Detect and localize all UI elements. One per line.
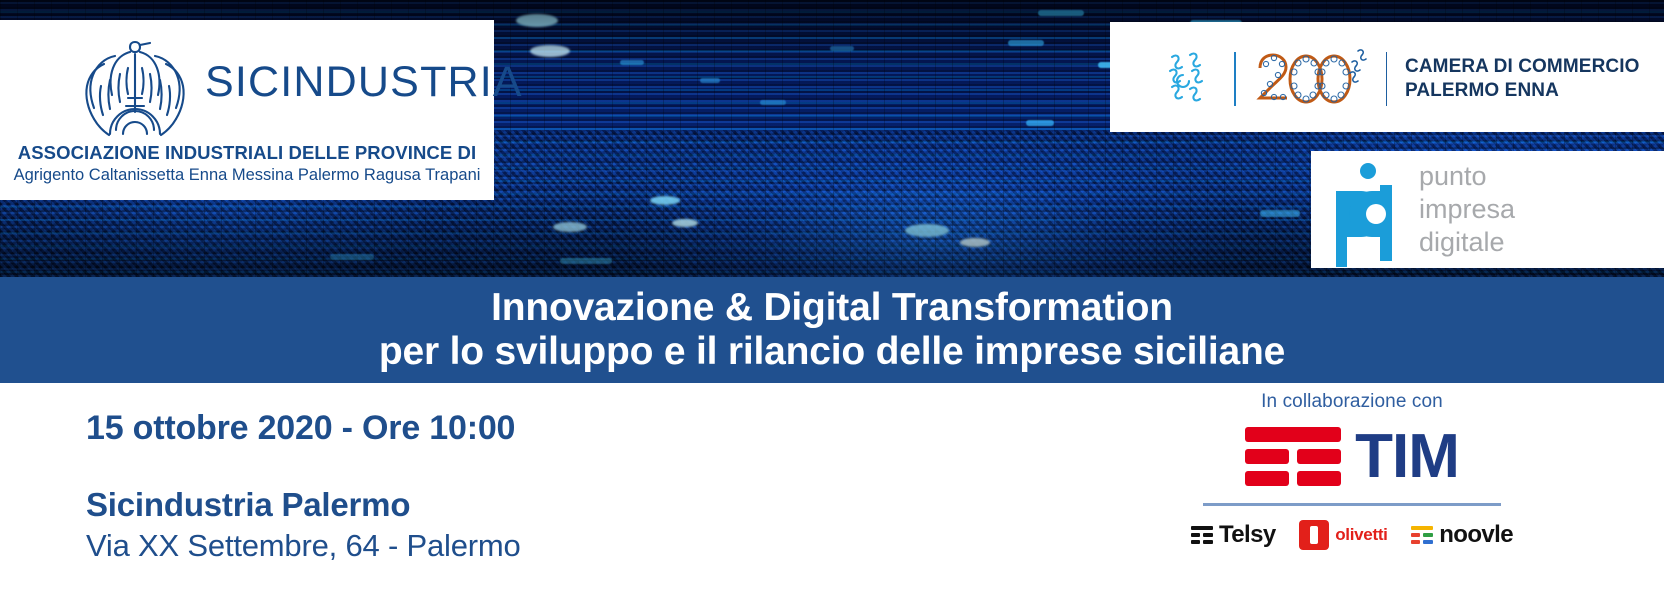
collaboration-divider	[1203, 503, 1501, 506]
telsy-bar-segment	[1191, 533, 1200, 537]
noovle-bar-segment	[1423, 540, 1433, 544]
collaboration-block: In collaborazione con TIM	[1187, 391, 1517, 550]
noovle-bar-row	[1411, 540, 1433, 544]
camera-commercio-name: CAMERA DI COMMERCIO PALERMO ENNA	[1405, 55, 1639, 103]
sicindustria-subtitle-line2: Agrigento Caltanissetta Enna Messina Pal…	[0, 166, 494, 185]
telsy-logo: Telsy	[1191, 521, 1276, 549]
event-title: Innovazione & Digital Transformation per…	[0, 277, 1664, 383]
noovle-bar-row	[1411, 526, 1433, 530]
telsy-wordmark: Telsy	[1219, 521, 1276, 549]
tim-bars-icon	[1245, 427, 1341, 486]
tim-bar-row	[1245, 471, 1341, 486]
tim-bar-segment	[1245, 427, 1341, 442]
event-banner: SICINDUSTRIA ASSOCIAZIONE INDUSTRIALI DE…	[0, 0, 1664, 600]
olivetti-logo: olivetti	[1299, 520, 1387, 550]
telsy-bar-row	[1191, 526, 1213, 530]
olivetti-wordmark: olivetti	[1335, 525, 1387, 545]
event-date-time: 15 ottobre 2020 - Ore 10:00	[86, 409, 521, 448]
noovle-bars-icon	[1411, 526, 1433, 544]
noovle-bar-segment	[1411, 526, 1433, 530]
pid-logo-plate: punto impresa digitale	[1311, 151, 1664, 268]
eagle-emblem-icon	[74, 34, 196, 138]
noovle-logo: noovle	[1411, 521, 1513, 549]
camera-commercio-logo-plate: CAMERA DI COMMERCIO PALERMO ENNA	[1110, 22, 1664, 132]
telsy-bar-row	[1191, 533, 1213, 537]
event-title-line2: per lo sviluppo e il rilancio delle impr…	[379, 330, 1285, 374]
tim-bar-segment	[1297, 471, 1341, 486]
olivetti-mark-bar	[1310, 526, 1318, 544]
pid-monogram-icon	[1328, 155, 1410, 267]
tim-wordmark: TIM	[1355, 428, 1459, 485]
tim-logo: TIM	[1187, 427, 1517, 486]
camera-commercio-mark-icon	[1162, 49, 1218, 109]
title-band: Innovazione & Digital Transformation per…	[0, 277, 1664, 383]
sicindustria-wordmark: SICINDUSTRIA	[205, 58, 523, 107]
telsy-bar-segment	[1203, 540, 1213, 544]
collaboration-label: In collaborazione con	[1187, 391, 1517, 413]
telsy-bar-segment	[1191, 540, 1200, 544]
pid-line3: digitale	[1419, 226, 1515, 259]
noovle-bar-segment	[1411, 540, 1420, 544]
tim-bar-segment	[1297, 449, 1341, 464]
tim-bar-row	[1245, 449, 1341, 464]
logo-divider	[1234, 52, 1236, 106]
tim-bar-segment	[1245, 471, 1289, 486]
event-venue: Sicindustria Palermo	[86, 486, 521, 524]
sicindustria-subtitle-line1: ASSOCIAZIONE INDUSTRIALI DELLE PROVINCE …	[0, 142, 494, 164]
telsy-bars-icon	[1191, 526, 1213, 544]
bottom-section: 15 ottobre 2020 - Ore 10:00 Sicindustria…	[0, 383, 1664, 600]
noovle-bar-segment	[1423, 533, 1433, 537]
telsy-bar-segment	[1203, 533, 1213, 537]
telsy-bar-row	[1191, 540, 1213, 544]
event-address: Via XX Settembre, 64 - Palermo	[86, 528, 521, 564]
sicindustria-logo-plate: SICINDUSTRIA ASSOCIAZIONE INDUSTRIALI DE…	[0, 20, 494, 200]
olivetti-mark-icon	[1299, 520, 1329, 550]
noovle-bar-segment	[1411, 533, 1420, 537]
tim-bar-segment	[1245, 449, 1289, 464]
pid-line1: punto	[1419, 160, 1515, 193]
anniversary-200-icon	[1252, 48, 1372, 110]
noovle-wordmark: noovle	[1439, 521, 1513, 549]
pid-wordmark: punto impresa digitale	[1419, 160, 1515, 259]
event-title-line1: Innovazione & Digital Transformation	[491, 286, 1173, 330]
circuit-board-background: SICINDUSTRIA ASSOCIAZIONE INDUSTRIALI DE…	[0, 0, 1664, 278]
event-details: 15 ottobre 2020 - Ore 10:00 Sicindustria…	[86, 409, 521, 564]
pid-line2: impresa	[1419, 193, 1515, 226]
telsy-bar-segment	[1191, 526, 1213, 530]
noovle-bar-row	[1411, 533, 1433, 537]
sub-partner-logos: Telsy olivetti	[1187, 520, 1517, 550]
camera-commercio-line2: PALERMO ENNA	[1405, 79, 1639, 103]
camera-commercio-line1: CAMERA DI COMMERCIO	[1405, 55, 1639, 79]
tim-bar-row	[1245, 427, 1341, 442]
logo-divider	[1386, 52, 1388, 106]
